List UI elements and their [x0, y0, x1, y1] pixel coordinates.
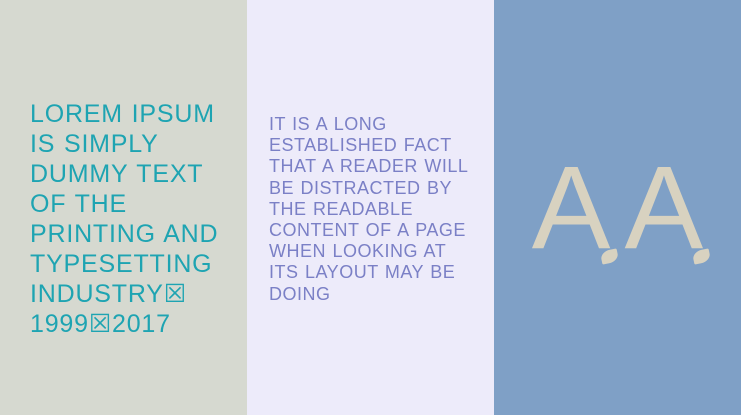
glyph-row: A A: [494, 0, 741, 415]
glyph-cell-uppercase-a-2: A: [625, 149, 704, 267]
glyph-letter: A: [532, 149, 611, 267]
headline-sample-text: LOREM IPSUM IS SIMPLY DUMMY TEXT OF THE …: [30, 99, 240, 339]
headline-specimen-panel: LOREM IPSUM IS SIMPLY DUMMY TEXT OF THE …: [0, 0, 247, 415]
paragraph-sample-text: IT IS A LONG ESTABLISHED FACT THAT A REA…: [269, 114, 487, 305]
glyph-cell-uppercase-a-1: A: [532, 149, 611, 267]
font-specimen-image: LOREM IPSUM IS SIMPLY DUMMY TEXT OF THE …: [0, 0, 741, 415]
paragraph-specimen-panel: IT IS A LONG ESTABLISHED FACT THAT A REA…: [247, 0, 494, 415]
glyph-letter: A: [625, 149, 704, 267]
glyph-specimen-panel: A A: [494, 0, 741, 415]
